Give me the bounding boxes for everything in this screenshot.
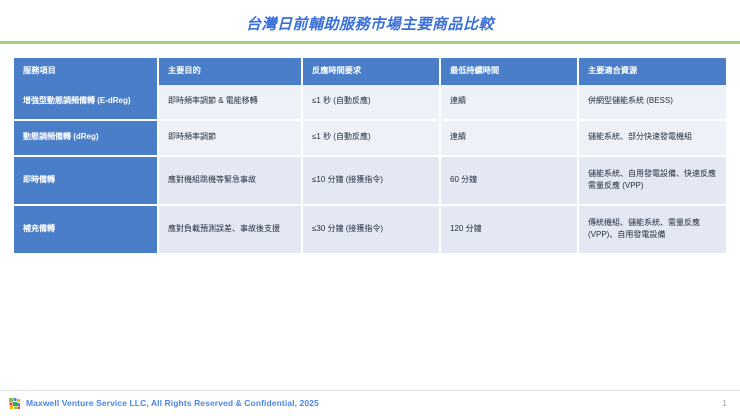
cell-purpose: 應對負載預測誤差、事故後支援 (158, 205, 302, 254)
cell-purpose: 即時頻率調節 & 電能移轉 (158, 85, 302, 120)
cell-response-time: ≤30 分鐘 (接獲指令) (302, 205, 440, 254)
cell-min-duration: 連續 (440, 120, 578, 156)
comparison-table: 服務項目 主要目的 反應時間要求 最低持續時間 主要適合資源 增強型動態調頻備轉… (14, 58, 726, 255)
cell-purpose: 即時頻率調節 (158, 120, 302, 156)
cell-resources: 併網型儲能系統 (BESS) (578, 85, 726, 120)
page-title: 台灣日前輔助服務市場主要商品比較 (0, 0, 740, 34)
column-header-purpose: 主要目的 (158, 58, 302, 85)
table-row: 補充備轉 應對負載預測誤差、事故後支援 ≤30 分鐘 (接獲指令) 120 分鐘… (14, 205, 726, 254)
cell-resources: 傳統機組、儲能系統、需量反應 (VPP)、自用發電設備 (578, 205, 726, 254)
table-row: 即時備轉 應對機組跳機等緊急事故 ≤10 分鐘 (接獲指令) 60 分鐘 儲能系… (14, 156, 726, 205)
company-logo-icon (8, 397, 21, 410)
cell-min-duration: 連續 (440, 85, 578, 120)
column-header-response-time: 反應時間要求 (302, 58, 440, 85)
cell-purpose: 應對機組跳機等緊急事故 (158, 156, 302, 205)
title-divider (0, 41, 740, 44)
cell-service: 即時備轉 (14, 156, 158, 205)
cell-service: 補充備轉 (14, 205, 158, 254)
cell-response-time: ≤1 秒 (自動反應) (302, 120, 440, 156)
copyright-text: Maxwell Venture Service LLC, All Rights … (26, 398, 319, 408)
column-header-min-duration: 最低持續時間 (440, 58, 578, 85)
cell-service: 增強型動態調頻備轉 (E-dReg) (14, 85, 158, 120)
column-header-resources: 主要適合資源 (578, 58, 726, 85)
page-number: 1 (722, 398, 727, 408)
cell-resources: 儲能系統、部分快速發電機組 (578, 120, 726, 156)
column-header-service: 服務項目 (14, 58, 158, 85)
footer: Maxwell Venture Service LLC, All Rights … (0, 390, 740, 416)
cell-service: 動態調頻備轉 (dReg) (14, 120, 158, 156)
table-row: 增強型動態調頻備轉 (E-dReg) 即時頻率調節 & 電能移轉 ≤1 秒 (自… (14, 85, 726, 120)
cell-response-time: ≤10 分鐘 (接獲指令) (302, 156, 440, 205)
table-row: 動態調頻備轉 (dReg) 即時頻率調節 ≤1 秒 (自動反應) 連續 儲能系統… (14, 120, 726, 156)
comparison-table-wrapper: 服務項目 主要目的 反應時間要求 最低持續時間 主要適合資源 增強型動態調頻備轉… (14, 58, 726, 255)
footer-divider (0, 390, 740, 391)
table-header-row: 服務項目 主要目的 反應時間要求 最低持續時間 主要適合資源 (14, 58, 726, 85)
cell-resources: 儲能系統、自用發電設備、快速反應需量反應 (VPP) (578, 156, 726, 205)
cell-response-time: ≤1 秒 (自動反應) (302, 85, 440, 120)
cell-min-duration: 60 分鐘 (440, 156, 578, 205)
cell-min-duration: 120 分鐘 (440, 205, 578, 254)
